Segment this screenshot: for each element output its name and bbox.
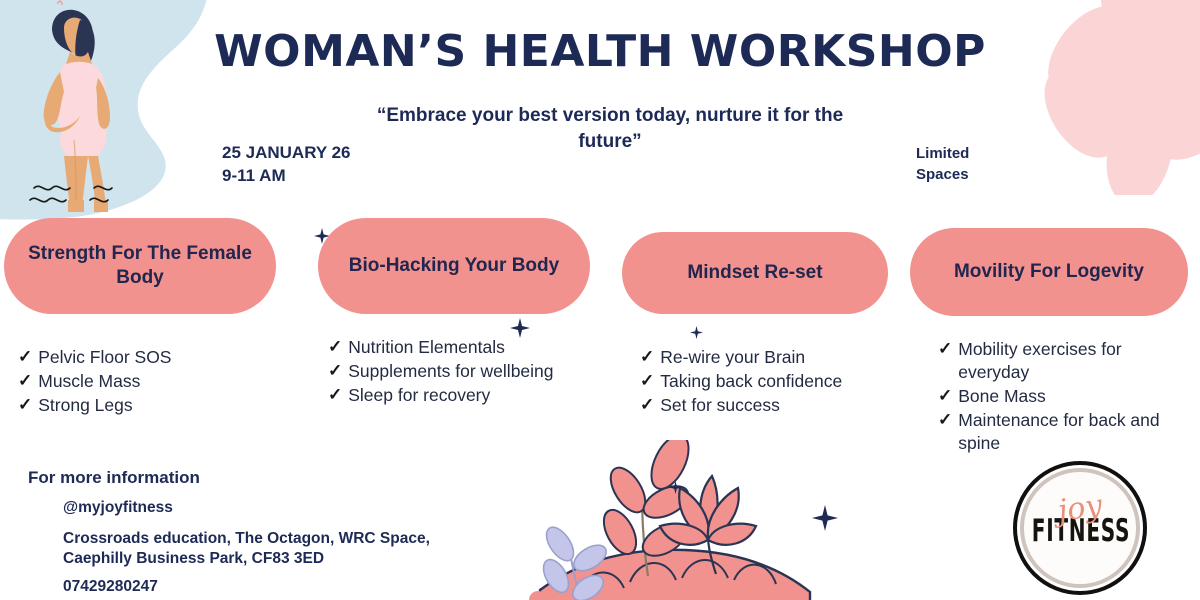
topic-heading-pill: Bio-Hacking Your Body (318, 218, 590, 314)
list-item: ✓ Set for success (640, 394, 888, 417)
flyer-canvas: WOMAN’S HEALTH WORKSHOP “Embrace your be… (0, 0, 1200, 600)
check-icon: ✓ (938, 385, 952, 407)
list-item-label: Pelvic Floor SOS (38, 346, 276, 369)
page-title: WOMAN’S HEALTH WORKSHOP (0, 26, 1200, 77)
list-item-label: Maintenance for back and spine (958, 409, 1188, 455)
instagram-handle: @myjoyfitness (63, 497, 173, 518)
list-item: ✓ Re-wire your Brain (640, 346, 888, 369)
sparkle-icon (812, 505, 838, 531)
check-icon: ✓ (328, 384, 342, 406)
event-datetime: 25 JANUARY 26 9-11 AM (222, 142, 351, 188)
list-item: ✓ Maintenance for back and spine (938, 409, 1188, 455)
list-item: ✓ Strong Legs (18, 394, 276, 417)
topic-heading-pill: Movility For Logevity (910, 228, 1188, 316)
check-icon: ✓ (938, 409, 952, 431)
limited-spaces-line2: Spaces (916, 164, 969, 185)
contact-info: For more information @myjoyfitness Cross… (28, 468, 458, 600)
list-item: ✓ Muscle Mass (18, 370, 276, 393)
check-icon: ✓ (640, 394, 654, 416)
topic-bullet-list: ✓ Re-wire your Brain ✓ Taking back confi… (640, 346, 888, 417)
list-item-label: Mobility exercises for everyday (958, 338, 1188, 384)
topic-column: Strength For The Female Body ✓ Pelvic Fl… (4, 218, 276, 418)
contact-row-instagram[interactable]: @myjoyfitness (28, 497, 458, 521)
check-icon: ✓ (18, 370, 32, 392)
contact-heading: For more information (28, 468, 458, 488)
list-item-label: Re-wire your Brain (660, 346, 888, 369)
phone-number: 07429280247 (63, 576, 158, 597)
event-date: 25 JANUARY 26 (222, 142, 351, 165)
botanical-illustration (520, 440, 900, 600)
check-icon: ✓ (18, 346, 32, 368)
topic-bullet-list: ✓ Mobility exercises for everyday ✓ Bone… (938, 338, 1188, 455)
topic-bullet-list: ✓ Nutrition Elementals ✓ Supplements for… (328, 336, 590, 407)
topic-column: Bio-Hacking Your Body ✓ Nutrition Elemen… (318, 218, 590, 408)
topic-column: Movility For Logevity ✓ Mobility exercis… (910, 218, 1188, 456)
check-icon: ✓ (18, 394, 32, 416)
topic-column: Mindset Re-set ✓ Re-wire your Brain ✓ Ta… (622, 218, 888, 418)
list-item-label: Sleep for recovery (348, 384, 590, 407)
list-item-label: Taking back confidence (660, 370, 888, 393)
list-item-label: Nutrition Elementals (348, 336, 590, 359)
list-item-label: Set for success (660, 394, 888, 417)
list-item-label: Strong Legs (38, 394, 276, 417)
location-pin-icon (28, 528, 52, 552)
limited-spaces-note: Limited Spaces (916, 143, 969, 185)
list-item-label: Supplements for wellbeing (348, 360, 590, 383)
check-icon: ✓ (938, 338, 952, 360)
list-item: ✓ Mobility exercises for everyday (938, 338, 1188, 384)
list-item: ✓ Supplements for wellbeing (328, 360, 590, 383)
event-time: 9-11 AM (222, 165, 351, 188)
topic-heading-pill: Mindset Re-set (622, 232, 888, 314)
check-icon: ✓ (640, 370, 654, 392)
contact-row-phone[interactable]: 07429280247 (28, 576, 458, 600)
joy-fitness-logo: FITNESS joy (1013, 461, 1147, 595)
instagram-icon (28, 497, 52, 521)
check-icon: ✓ (640, 346, 654, 368)
list-item: ✓ Pelvic Floor SOS (18, 346, 276, 369)
check-icon: ✓ (328, 336, 342, 358)
page-subtitle: “Embrace your best version today, nurtur… (350, 103, 870, 154)
address-text: Crossroads education, The Octagon, WRC S… (63, 528, 458, 569)
list-item-label: Muscle Mass (38, 370, 276, 393)
list-item-label: Bone Mass (958, 385, 1188, 408)
topic-bullet-list: ✓ Pelvic Floor SOS ✓ Muscle Mass ✓ Stron… (18, 346, 276, 417)
contact-row-address: Crossroads education, The Octagon, WRC S… (28, 528, 458, 569)
list-item: ✓ Taking back confidence (640, 370, 888, 393)
list-item: ✓ Bone Mass (938, 385, 1188, 408)
sparkle-icon (669, 481, 682, 494)
check-icon: ✓ (328, 360, 342, 382)
list-item: ✓ Nutrition Elementals (328, 336, 590, 359)
limited-spaces-line1: Limited (916, 143, 969, 164)
phone-icon (28, 576, 52, 600)
topic-heading-pill: Strength For The Female Body (4, 218, 276, 314)
list-item: ✓ Sleep for recovery (328, 384, 590, 407)
